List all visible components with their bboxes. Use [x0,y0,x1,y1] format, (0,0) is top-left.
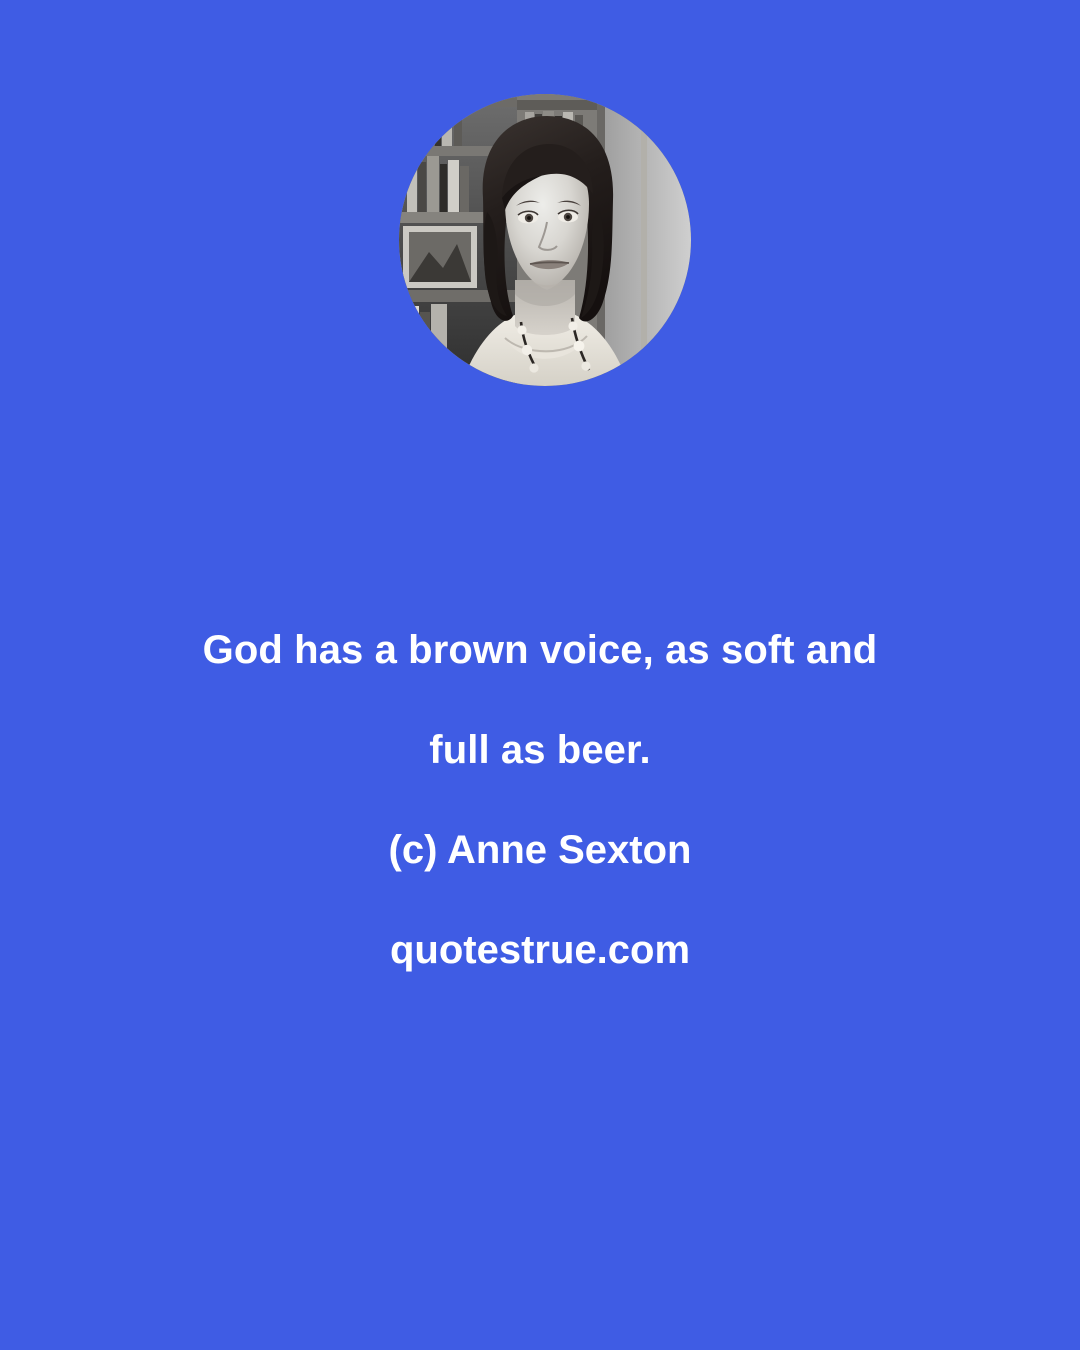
quote-line-1: God has a brown voice, as soft and [0,600,1080,700]
quote-text-block: God has a brown voice, as soft and full … [0,600,1080,1000]
quote-line-2: full as beer. [0,700,1080,800]
quote-attribution: (c) Anne Sexton [0,800,1080,900]
site-url: quotestrue.com [0,900,1080,1000]
quote-poster: God has a brown voice, as soft and full … [0,0,1080,1350]
author-portrait-image [399,94,691,386]
author-portrait [399,94,691,386]
